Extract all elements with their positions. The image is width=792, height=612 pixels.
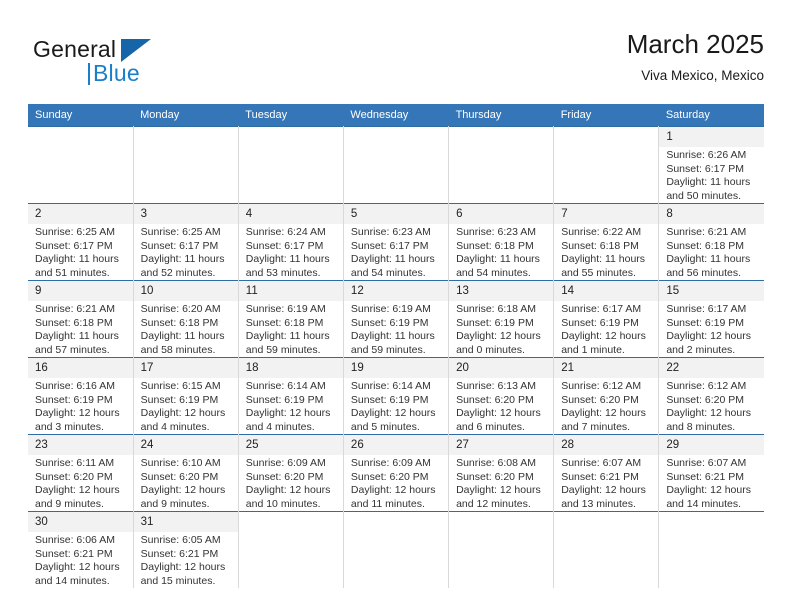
day-number: 28 — [554, 435, 658, 455]
daylight-text-line2: and 0 minutes. — [456, 344, 548, 358]
sunrise-text: Sunrise: 6:21 AM — [35, 303, 128, 317]
daylight-text-line2: and 8 minutes. — [666, 421, 759, 435]
daylight-text-line2: and 6 minutes. — [456, 421, 548, 435]
daylight-text-line2: and 56 minutes. — [666, 267, 759, 281]
sunrise-text: Sunrise: 6:10 AM — [141, 457, 233, 471]
day-details: Sunrise: 6:06 AMSunset: 6:21 PMDaylight:… — [28, 532, 133, 588]
sunrise-text: Sunrise: 6:15 AM — [141, 380, 233, 394]
sunrise-text: Sunrise: 6:06 AM — [35, 534, 128, 548]
logo-divider-bar — [88, 63, 90, 85]
sunrise-text: Sunrise: 6:11 AM — [35, 457, 128, 471]
calendar-day-cell[interactable]: 28Sunrise: 6:07 AMSunset: 6:21 PMDayligh… — [554, 435, 659, 512]
day-number: 15 — [659, 281, 764, 301]
calendar-empty-cell — [238, 512, 343, 589]
sunset-text: Sunset: 6:19 PM — [561, 317, 653, 331]
day-details: Sunrise: 6:25 AMSunset: 6:17 PMDaylight:… — [28, 224, 133, 280]
day-details: Sunrise: 6:05 AMSunset: 6:21 PMDaylight:… — [134, 532, 238, 588]
day-number: 8 — [659, 204, 764, 224]
day-number: 7 — [554, 204, 658, 224]
day-number: 1 — [659, 127, 764, 147]
daylight-text-line2: and 11 minutes. — [351, 498, 443, 512]
calendar-day-cell[interactable]: 25Sunrise: 6:09 AMSunset: 6:20 PMDayligh… — [238, 435, 343, 512]
sunset-text: Sunset: 6:20 PM — [456, 394, 548, 408]
day-number: 12 — [344, 281, 448, 301]
logo-text-general: General — [33, 36, 116, 63]
day-number: 11 — [239, 281, 343, 301]
calendar-day-cell[interactable]: 11Sunrise: 6:19 AMSunset: 6:18 PMDayligh… — [238, 281, 343, 358]
calendar-week-row: 2Sunrise: 6:25 AMSunset: 6:17 PMDaylight… — [28, 204, 764, 281]
daylight-text-line1: Daylight: 12 hours — [561, 330, 653, 344]
day-details: Sunrise: 6:23 AMSunset: 6:17 PMDaylight:… — [344, 224, 448, 280]
sunrise-text: Sunrise: 6:14 AM — [351, 380, 443, 394]
calendar-day-cell[interactable]: 1Sunrise: 6:26 AMSunset: 6:17 PMDaylight… — [659, 127, 764, 204]
weekday-header-sunday: Sunday — [28, 104, 133, 127]
sunrise-text: Sunrise: 6:24 AM — [246, 226, 338, 240]
calendar-empty-cell — [659, 512, 764, 589]
sunrise-text: Sunrise: 6:21 AM — [666, 226, 759, 240]
weekday-header-row: Sunday Monday Tuesday Wednesday Thursday… — [28, 104, 764, 127]
daylight-text-line1: Daylight: 11 hours — [561, 253, 653, 267]
sunset-text: Sunset: 6:21 PM — [35, 548, 128, 562]
day-number: 29 — [659, 435, 764, 455]
sunrise-text: Sunrise: 6:09 AM — [246, 457, 338, 471]
day-details: Sunrise: 6:20 AMSunset: 6:18 PMDaylight:… — [134, 301, 238, 357]
day-number: 14 — [554, 281, 658, 301]
sunset-text: Sunset: 6:18 PM — [456, 240, 548, 254]
day-details: Sunrise: 6:11 AMSunset: 6:20 PMDaylight:… — [28, 455, 133, 511]
title-block: March 2025 Viva Mexico, Mexico — [627, 28, 764, 86]
sunset-text: Sunset: 6:20 PM — [35, 471, 128, 485]
day-details: Sunrise: 6:21 AMSunset: 6:18 PMDaylight:… — [659, 224, 764, 280]
daylight-text-line1: Daylight: 12 hours — [666, 407, 759, 421]
calendar-week-row: 16Sunrise: 6:16 AMSunset: 6:19 PMDayligh… — [28, 358, 764, 435]
daylight-text-line2: and 1 minute. — [561, 344, 653, 358]
sunrise-text: Sunrise: 6:17 AM — [666, 303, 759, 317]
day-details: Sunrise: 6:07 AMSunset: 6:21 PMDaylight:… — [659, 455, 764, 511]
sunrise-text: Sunrise: 6:19 AM — [246, 303, 338, 317]
calendar-empty-cell — [238, 127, 343, 204]
calendar-empty-cell — [343, 512, 448, 589]
day-number: 2 — [28, 204, 133, 224]
sunset-text: Sunset: 6:20 PM — [141, 471, 233, 485]
sunset-text: Sunset: 6:17 PM — [141, 240, 233, 254]
daylight-text-line2: and 7 minutes. — [561, 421, 653, 435]
calendar-empty-cell — [28, 127, 133, 204]
daylight-text-line1: Daylight: 12 hours — [141, 561, 233, 575]
sunrise-text: Sunrise: 6:25 AM — [141, 226, 233, 240]
daylight-text-line1: Daylight: 11 hours — [351, 253, 443, 267]
calendar-day-cell[interactable]: 7Sunrise: 6:22 AMSunset: 6:18 PMDaylight… — [554, 204, 659, 281]
daylight-text-line2: and 52 minutes. — [141, 267, 233, 281]
day-number: 5 — [344, 204, 448, 224]
daylight-text-line1: Daylight: 12 hours — [141, 484, 233, 498]
daylight-text-line1: Daylight: 11 hours — [246, 253, 338, 267]
daylight-text-line1: Daylight: 12 hours — [246, 407, 338, 421]
sunset-text: Sunset: 6:19 PM — [246, 394, 338, 408]
sunset-text: Sunset: 6:20 PM — [456, 471, 548, 485]
day-details: Sunrise: 6:23 AMSunset: 6:18 PMDaylight:… — [449, 224, 553, 280]
day-number: 19 — [344, 358, 448, 378]
day-details: Sunrise: 6:26 AMSunset: 6:17 PMDaylight:… — [659, 147, 764, 203]
day-details: Sunrise: 6:18 AMSunset: 6:19 PMDaylight:… — [449, 301, 553, 357]
day-details: Sunrise: 6:09 AMSunset: 6:20 PMDaylight:… — [239, 455, 343, 511]
weekday-header-wednesday: Wednesday — [343, 104, 448, 127]
calendar-day-cell[interactable]: 3Sunrise: 6:25 AMSunset: 6:17 PMDaylight… — [133, 204, 238, 281]
calendar-day-cell[interactable]: 10Sunrise: 6:20 AMSunset: 6:18 PMDayligh… — [133, 281, 238, 358]
day-details: Sunrise: 6:14 AMSunset: 6:19 PMDaylight:… — [344, 378, 448, 434]
daylight-text-line1: Daylight: 12 hours — [246, 484, 338, 498]
sunrise-text: Sunrise: 6:12 AM — [561, 380, 653, 394]
calendar-container: Sunday Monday Tuesday Wednesday Thursday… — [28, 104, 764, 588]
day-number: 10 — [134, 281, 238, 301]
sunrise-text: Sunrise: 6:16 AM — [35, 380, 128, 394]
sunset-text: Sunset: 6:17 PM — [246, 240, 338, 254]
day-details: Sunrise: 6:16 AMSunset: 6:19 PMDaylight:… — [28, 378, 133, 434]
calendar-day-cell[interactable]: 6Sunrise: 6:23 AMSunset: 6:18 PMDaylight… — [449, 204, 554, 281]
day-details: Sunrise: 6:17 AMSunset: 6:19 PMDaylight:… — [554, 301, 658, 357]
calendar-day-cell[interactable]: 9Sunrise: 6:21 AMSunset: 6:18 PMDaylight… — [28, 281, 133, 358]
daylight-text-line2: and 58 minutes. — [141, 344, 233, 358]
day-number: 27 — [449, 435, 553, 455]
calendar-day-cell[interactable]: 15Sunrise: 6:17 AMSunset: 6:19 PMDayligh… — [659, 281, 764, 358]
sunrise-text: Sunrise: 6:20 AM — [141, 303, 233, 317]
day-details: Sunrise: 6:12 AMSunset: 6:20 PMDaylight:… — [659, 378, 764, 434]
daylight-text-line2: and 12 minutes. — [456, 498, 548, 512]
sunrise-text: Sunrise: 6:25 AM — [35, 226, 128, 240]
daylight-text-line1: Daylight: 11 hours — [35, 330, 128, 344]
daylight-text-line1: Daylight: 11 hours — [35, 253, 128, 267]
calendar-body: 1Sunrise: 6:26 AMSunset: 6:17 PMDaylight… — [28, 127, 764, 589]
sunset-text: Sunset: 6:17 PM — [351, 240, 443, 254]
daylight-text-line2: and 4 minutes. — [141, 421, 233, 435]
daylight-text-line2: and 9 minutes. — [141, 498, 233, 512]
daylight-text-line2: and 3 minutes. — [35, 421, 128, 435]
calendar-day-cell[interactable]: 17Sunrise: 6:15 AMSunset: 6:19 PMDayligh… — [133, 358, 238, 435]
daylight-text-line1: Daylight: 12 hours — [666, 330, 759, 344]
sunset-text: Sunset: 6:18 PM — [666, 240, 759, 254]
sunrise-text: Sunrise: 6:08 AM — [456, 457, 548, 471]
calendar-empty-cell — [554, 127, 659, 204]
calendar-day-cell[interactable]: 2Sunrise: 6:25 AMSunset: 6:17 PMDaylight… — [28, 204, 133, 281]
weekday-header-friday: Friday — [554, 104, 659, 127]
sunset-text: Sunset: 6:21 PM — [141, 548, 233, 562]
weekday-header-thursday: Thursday — [449, 104, 554, 127]
daylight-text-line1: Daylight: 12 hours — [456, 407, 548, 421]
calendar-page: General Blue March 2025 Viva Mexico, Mex… — [0, 0, 792, 612]
daylight-text-line1: Daylight: 12 hours — [456, 330, 548, 344]
day-number: 20 — [449, 358, 553, 378]
sunset-text: Sunset: 6:21 PM — [561, 471, 653, 485]
sunset-text: Sunset: 6:18 PM — [246, 317, 338, 331]
daylight-text-line2: and 13 minutes. — [561, 498, 653, 512]
sunrise-text: Sunrise: 6:18 AM — [456, 303, 548, 317]
sunset-text: Sunset: 6:20 PM — [351, 471, 443, 485]
day-number: 23 — [28, 435, 133, 455]
sunrise-text: Sunrise: 6:05 AM — [141, 534, 233, 548]
daylight-text-line1: Daylight: 12 hours — [351, 484, 443, 498]
daylight-text-line2: and 54 minutes. — [351, 267, 443, 281]
daylight-text-line1: Daylight: 11 hours — [666, 253, 759, 267]
daylight-text-line2: and 59 minutes. — [351, 344, 443, 358]
daylight-text-line2: and 14 minutes. — [35, 575, 128, 589]
calendar-day-cell[interactable]: 12Sunrise: 6:19 AMSunset: 6:19 PMDayligh… — [343, 281, 448, 358]
calendar-table: Sunday Monday Tuesday Wednesday Thursday… — [28, 104, 764, 588]
day-number: 6 — [449, 204, 553, 224]
sunrise-text: Sunrise: 6:19 AM — [351, 303, 443, 317]
day-details: Sunrise: 6:08 AMSunset: 6:20 PMDaylight:… — [449, 455, 553, 511]
calendar-empty-cell — [449, 512, 554, 589]
sunset-text: Sunset: 6:17 PM — [35, 240, 128, 254]
daylight-text-line2: and 50 minutes. — [666, 190, 759, 204]
sunrise-text: Sunrise: 6:07 AM — [666, 457, 759, 471]
daylight-text-line1: Daylight: 11 hours — [141, 330, 233, 344]
day-number: 26 — [344, 435, 448, 455]
day-details: Sunrise: 6:15 AMSunset: 6:19 PMDaylight:… — [134, 378, 238, 434]
daylight-text-line2: and 54 minutes. — [456, 267, 548, 281]
day-details: Sunrise: 6:19 AMSunset: 6:19 PMDaylight:… — [344, 301, 448, 357]
sunset-text: Sunset: 6:18 PM — [141, 317, 233, 331]
sunrise-text: Sunrise: 6:23 AM — [456, 226, 548, 240]
calendar-day-cell[interactable]: 26Sunrise: 6:09 AMSunset: 6:20 PMDayligh… — [343, 435, 448, 512]
day-details: Sunrise: 6:10 AMSunset: 6:20 PMDaylight:… — [134, 455, 238, 511]
sunrise-text: Sunrise: 6:07 AM — [561, 457, 653, 471]
daylight-text-line1: Daylight: 12 hours — [561, 407, 653, 421]
daylight-text-line2: and 57 minutes. — [35, 344, 128, 358]
day-number: 24 — [134, 435, 238, 455]
daylight-text-line1: Daylight: 11 hours — [666, 176, 759, 190]
calendar-day-cell[interactable]: 23Sunrise: 6:11 AMSunset: 6:20 PMDayligh… — [28, 435, 133, 512]
daylight-text-line2: and 15 minutes. — [141, 575, 233, 589]
daylight-text-line1: Daylight: 12 hours — [561, 484, 653, 498]
calendar-day-cell[interactable]: 30Sunrise: 6:06 AMSunset: 6:21 PMDayligh… — [28, 512, 133, 589]
calendar-day-cell[interactable]: 22Sunrise: 6:12 AMSunset: 6:20 PMDayligh… — [659, 358, 764, 435]
calendar-head: Sunday Monday Tuesday Wednesday Thursday… — [28, 104, 764, 127]
day-details: Sunrise: 6:22 AMSunset: 6:18 PMDaylight:… — [554, 224, 658, 280]
day-number: 9 — [28, 281, 133, 301]
day-number: 18 — [239, 358, 343, 378]
page-title: March 2025 — [627, 28, 764, 60]
daylight-text-line2: and 4 minutes. — [246, 421, 338, 435]
daylight-text-line2: and 10 minutes. — [246, 498, 338, 512]
daylight-text-line1: Daylight: 11 hours — [351, 330, 443, 344]
sunset-text: Sunset: 6:20 PM — [666, 394, 759, 408]
calendar-day-cell[interactable]: 8Sunrise: 6:21 AMSunset: 6:18 PMDaylight… — [659, 204, 764, 281]
daylight-text-line1: Daylight: 12 hours — [456, 484, 548, 498]
day-details: Sunrise: 6:09 AMSunset: 6:20 PMDaylight:… — [344, 455, 448, 511]
calendar-day-cell[interactable]: 5Sunrise: 6:23 AMSunset: 6:17 PMDaylight… — [343, 204, 448, 281]
day-details: Sunrise: 6:19 AMSunset: 6:18 PMDaylight:… — [239, 301, 343, 357]
daylight-text-line2: and 53 minutes. — [246, 267, 338, 281]
calendar-empty-cell — [133, 127, 238, 204]
calendar-day-cell[interactable]: 16Sunrise: 6:16 AMSunset: 6:19 PMDayligh… — [28, 358, 133, 435]
calendar-day-cell[interactable]: 19Sunrise: 6:14 AMSunset: 6:19 PMDayligh… — [343, 358, 448, 435]
day-number: 16 — [28, 358, 133, 378]
sunrise-text: Sunrise: 6:12 AM — [666, 380, 759, 394]
daylight-text-line1: Daylight: 11 hours — [141, 253, 233, 267]
calendar-day-cell[interactable]: 18Sunrise: 6:14 AMSunset: 6:19 PMDayligh… — [238, 358, 343, 435]
sunset-text: Sunset: 6:19 PM — [666, 317, 759, 331]
day-details: Sunrise: 6:12 AMSunset: 6:20 PMDaylight:… — [554, 378, 658, 434]
calendar-empty-cell — [449, 127, 554, 204]
weekday-header-monday: Monday — [133, 104, 238, 127]
daylight-text-line1: Daylight: 12 hours — [35, 407, 128, 421]
sunrise-text: Sunrise: 6:23 AM — [351, 226, 443, 240]
day-number: 31 — [134, 512, 238, 532]
calendar-day-cell[interactable]: 21Sunrise: 6:12 AMSunset: 6:20 PMDayligh… — [554, 358, 659, 435]
day-details: Sunrise: 6:25 AMSunset: 6:17 PMDaylight:… — [134, 224, 238, 280]
sunset-text: Sunset: 6:19 PM — [351, 317, 443, 331]
calendar-day-cell[interactable]: 4Sunrise: 6:24 AMSunset: 6:17 PMDaylight… — [238, 204, 343, 281]
sunrise-text: Sunrise: 6:14 AM — [246, 380, 338, 394]
day-number: 25 — [239, 435, 343, 455]
day-details: Sunrise: 6:24 AMSunset: 6:17 PMDaylight:… — [239, 224, 343, 280]
calendar-day-cell[interactable]: 29Sunrise: 6:07 AMSunset: 6:21 PMDayligh… — [659, 435, 764, 512]
calendar-week-row: 30Sunrise: 6:06 AMSunset: 6:21 PMDayligh… — [28, 512, 764, 589]
sunrise-text: Sunrise: 6:26 AM — [666, 149, 759, 163]
daylight-text-line2: and 14 minutes. — [666, 498, 759, 512]
day-details: Sunrise: 6:07 AMSunset: 6:21 PMDaylight:… — [554, 455, 658, 511]
day-details: Sunrise: 6:17 AMSunset: 6:19 PMDaylight:… — [659, 301, 764, 357]
calendar-empty-cell — [554, 512, 659, 589]
calendar-empty-cell — [343, 127, 448, 204]
weekday-header-tuesday: Tuesday — [238, 104, 343, 127]
daylight-text-line1: Daylight: 12 hours — [141, 407, 233, 421]
daylight-text-line1: Daylight: 12 hours — [35, 484, 128, 498]
logo-text-blue: Blue — [93, 60, 140, 87]
day-number: 30 — [28, 512, 133, 532]
general-blue-logo: General Blue — [33, 36, 233, 94]
calendar-week-row: 9Sunrise: 6:21 AMSunset: 6:18 PMDaylight… — [28, 281, 764, 358]
daylight-text-line1: Daylight: 12 hours — [666, 484, 759, 498]
calendar-week-row: 1Sunrise: 6:26 AMSunset: 6:17 PMDaylight… — [28, 127, 764, 204]
daylight-text-line2: and 9 minutes. — [35, 498, 128, 512]
sunset-text: Sunset: 6:20 PM — [246, 471, 338, 485]
sunrise-text: Sunrise: 6:17 AM — [561, 303, 653, 317]
daylight-text-line1: Daylight: 12 hours — [35, 561, 128, 575]
sunset-text: Sunset: 6:19 PM — [35, 394, 128, 408]
weekday-header-saturday: Saturday — [659, 104, 764, 127]
day-details: Sunrise: 6:21 AMSunset: 6:18 PMDaylight:… — [28, 301, 133, 357]
calendar-week-row: 23Sunrise: 6:11 AMSunset: 6:20 PMDayligh… — [28, 435, 764, 512]
day-number: 3 — [134, 204, 238, 224]
day-details: Sunrise: 6:14 AMSunset: 6:19 PMDaylight:… — [239, 378, 343, 434]
daylight-text-line1: Daylight: 11 hours — [246, 330, 338, 344]
daylight-text-line2: and 2 minutes. — [666, 344, 759, 358]
calendar-day-cell[interactable]: 20Sunrise: 6:13 AMSunset: 6:20 PMDayligh… — [449, 358, 554, 435]
sunrise-text: Sunrise: 6:13 AM — [456, 380, 548, 394]
sunrise-text: Sunrise: 6:22 AM — [561, 226, 653, 240]
sunset-text: Sunset: 6:18 PM — [35, 317, 128, 331]
page-subtitle: Viva Mexico, Mexico — [627, 66, 764, 86]
sunset-text: Sunset: 6:19 PM — [456, 317, 548, 331]
sunset-text: Sunset: 6:19 PM — [141, 394, 233, 408]
daylight-text-line2: and 55 minutes. — [561, 267, 653, 281]
day-number: 13 — [449, 281, 553, 301]
day-number: 21 — [554, 358, 658, 378]
daylight-text-line1: Daylight: 12 hours — [351, 407, 443, 421]
daylight-text-line1: Daylight: 11 hours — [456, 253, 548, 267]
day-number: 17 — [134, 358, 238, 378]
calendar-day-cell[interactable]: 24Sunrise: 6:10 AMSunset: 6:20 PMDayligh… — [133, 435, 238, 512]
page-header: General Blue March 2025 Viva Mexico, Mex… — [28, 28, 764, 96]
sunrise-text: Sunrise: 6:09 AM — [351, 457, 443, 471]
calendar-day-cell[interactable]: 27Sunrise: 6:08 AMSunset: 6:20 PMDayligh… — [449, 435, 554, 512]
daylight-text-line2: and 51 minutes. — [35, 267, 128, 281]
sunset-text: Sunset: 6:21 PM — [666, 471, 759, 485]
daylight-text-line2: and 59 minutes. — [246, 344, 338, 358]
calendar-day-cell[interactable]: 14Sunrise: 6:17 AMSunset: 6:19 PMDayligh… — [554, 281, 659, 358]
calendar-day-cell[interactable]: 13Sunrise: 6:18 AMSunset: 6:19 PMDayligh… — [449, 281, 554, 358]
logo-triangle-icon — [121, 39, 151, 62]
sunset-text: Sunset: 6:19 PM — [351, 394, 443, 408]
sunset-text: Sunset: 6:18 PM — [561, 240, 653, 254]
sunset-text: Sunset: 6:17 PM — [666, 163, 759, 177]
day-details: Sunrise: 6:13 AMSunset: 6:20 PMDaylight:… — [449, 378, 553, 434]
day-number: 4 — [239, 204, 343, 224]
calendar-day-cell[interactable]: 31Sunrise: 6:05 AMSunset: 6:21 PMDayligh… — [133, 512, 238, 589]
daylight-text-line2: and 5 minutes. — [351, 421, 443, 435]
sunset-text: Sunset: 6:20 PM — [561, 394, 653, 408]
day-number: 22 — [659, 358, 764, 378]
